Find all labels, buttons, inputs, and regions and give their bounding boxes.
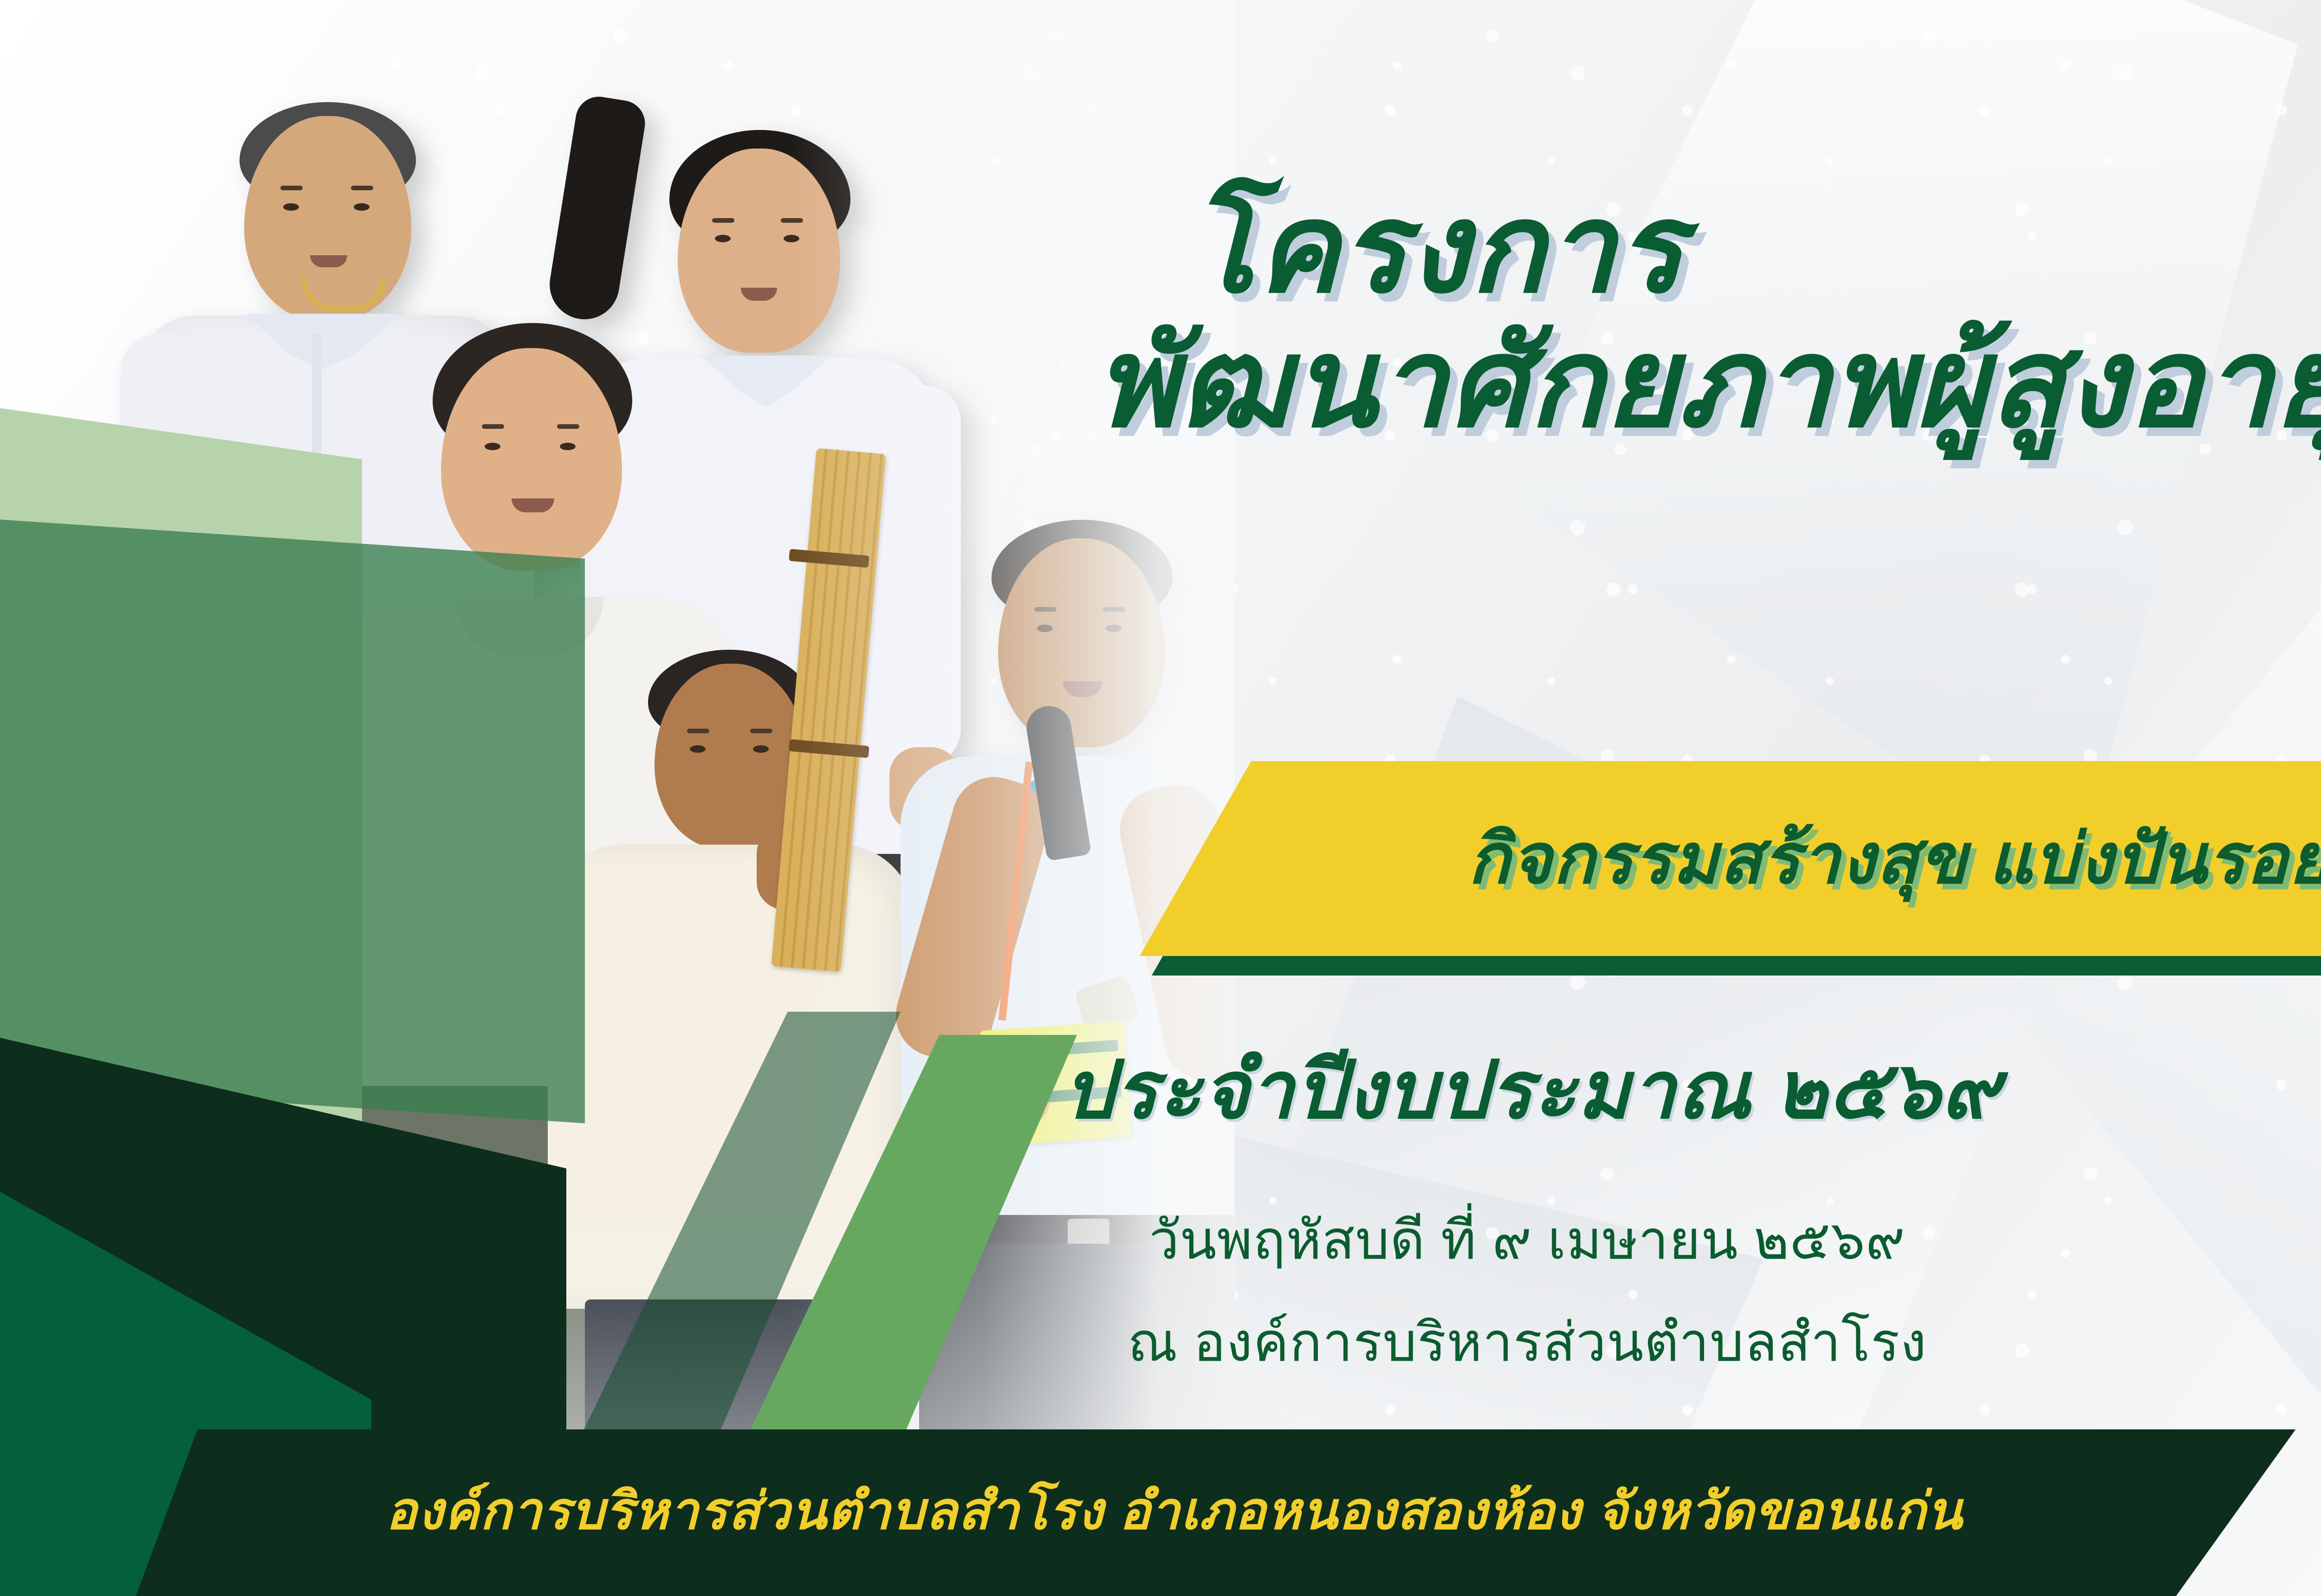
eyebrow-right — [750, 729, 772, 733]
eyebrow-right — [557, 424, 579, 429]
event-venue-text: ณ องค์การบริหารส่วนตำบลสำโรง — [0, 1299, 2321, 1385]
headline-block: โครงการ พัฒนาศักยภาพผู้สูงอายุ — [1096, 186, 2321, 445]
event-poster: โครงการ พัฒนาศักยภาพผู้สูงอายุ กิจกรรมสร… — [0, 0, 2321, 1596]
necklace — [302, 278, 385, 311]
footer-bar: องค์การบริหารส่วนตำบลสำโรง อำเภอหนองสองห… — [0, 1429, 2321, 1596]
eye-right — [354, 203, 370, 211]
eye-left — [690, 745, 706, 753]
eyebrow-left — [280, 186, 303, 190]
eye-left — [715, 235, 731, 242]
ribbon-label: กิจกรรมสร้างสุข แบ่งปันรอยยิ้ม ตำบลสำโรง — [1123, 761, 2321, 956]
mouth — [310, 255, 347, 267]
eyebrow-left — [687, 729, 709, 733]
eye-left — [283, 203, 299, 211]
mouth — [512, 498, 554, 512]
eyebrow-left — [712, 218, 734, 223]
eye-right — [753, 745, 769, 753]
eye-left — [485, 443, 500, 450]
head — [441, 348, 622, 571]
headline-line-1: โครงการ — [1188, 186, 2321, 310]
eye-right — [560, 443, 576, 450]
event-date-text: วันพฤหัสบดี ที่ ๙ เมษายน ๒๕๖๙ — [0, 1197, 2321, 1283]
footer-organization-text: องค์การบริหารส่วนตำบลสำโรง อำเภอหนองสองห… — [125, 1429, 2224, 1592]
subtitle-ribbon: กิจกรรมสร้างสุข แบ่งปันรอยยิ้ม ตำบลสำโรง — [1123, 761, 2321, 956]
headline-line-2: พัฒนาศักยภาพผู้สูงอายุ — [1096, 320, 2321, 445]
fiscal-year-text: ประจำปีงบประมาณ ๒๕๖๙ — [0, 1026, 2321, 1153]
eyebrow-left — [482, 424, 504, 429]
eyebrow-right — [351, 186, 373, 190]
